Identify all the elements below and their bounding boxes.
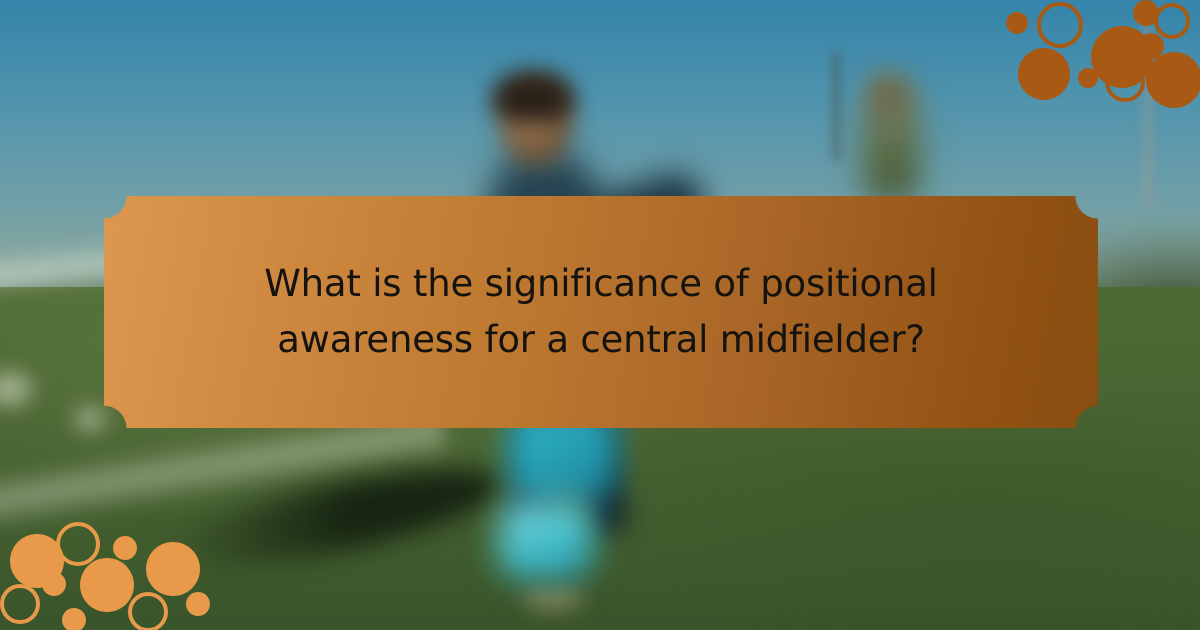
- question-banner: What is the significance of positional a…: [104, 196, 1098, 428]
- deco-ring-large: [1037, 2, 1083, 48]
- decoration-bottom-left: [0, 510, 216, 630]
- deco-dot-right: [186, 592, 210, 616]
- deco-dot-small: [113, 536, 137, 560]
- player-shorts-highlight: [498, 500, 594, 580]
- secondary-figure-head: [869, 74, 909, 118]
- deco-dot-tiny2: [62, 608, 86, 630]
- deco-ring-right: [1154, 3, 1190, 39]
- question-text: What is the significance of positional a…: [261, 256, 941, 368]
- deco-dot-medium: [1018, 48, 1070, 100]
- player-hair: [492, 71, 574, 123]
- question-card-stage: What is the significance of positional a…: [0, 0, 1200, 630]
- deco-dot-right: [1146, 52, 1200, 108]
- deco-ring-mid: [128, 592, 168, 630]
- deco-ring-large: [56, 522, 100, 566]
- deco-dot-tiny: [42, 572, 66, 596]
- floodlight-pole-left: [833, 52, 840, 160]
- deco-dot-mid: [80, 558, 134, 612]
- deco-ring-mid: [1105, 62, 1145, 102]
- deco-dot-small: [1006, 12, 1028, 34]
- deco-dot-large2: [146, 542, 200, 596]
- decoration-top-right: [990, 0, 1200, 118]
- deco-ring-small: [0, 584, 40, 624]
